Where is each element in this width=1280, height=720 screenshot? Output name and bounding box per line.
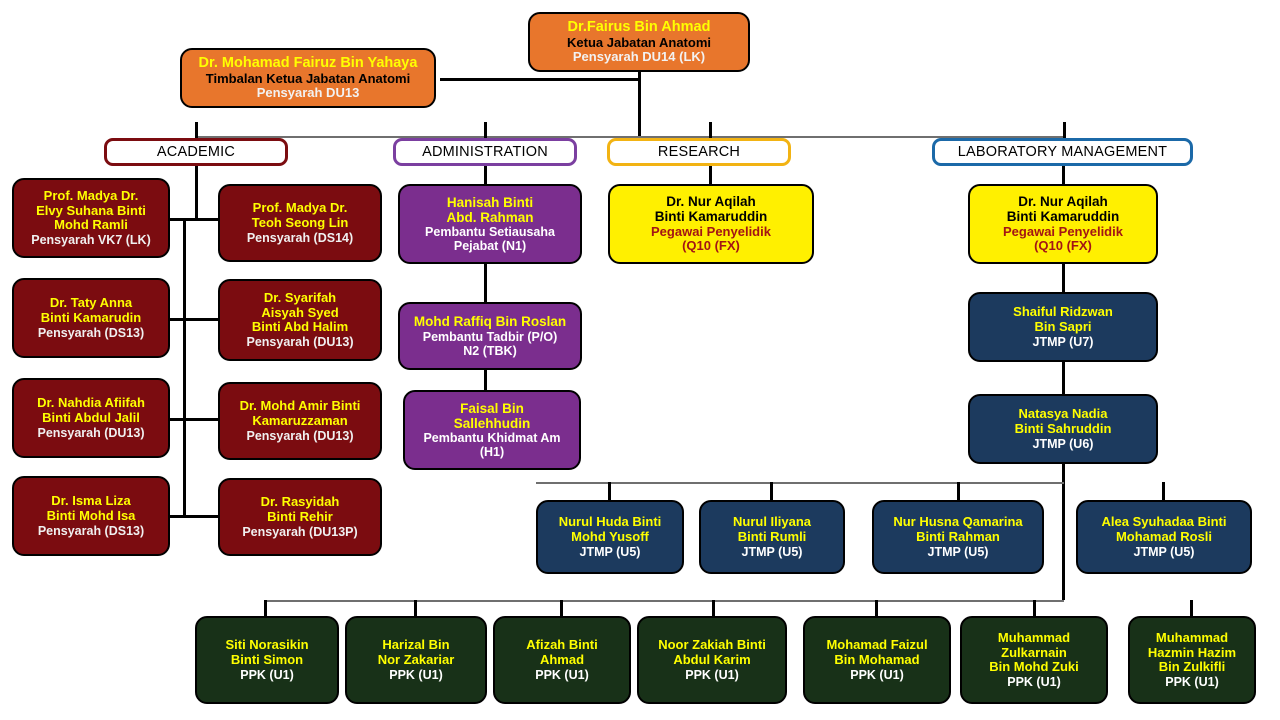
node-name-line: Binti Rahman	[916, 530, 1000, 545]
node-name-line: Siti Norasikin	[225, 638, 308, 653]
node-role-line: Pensyarah (DU13)	[247, 335, 354, 349]
node-name-line: Binti Kamarudin	[41, 311, 141, 326]
node-lab-technician[interactable]: Nurul Iliyana Binti Rumli JTMP (U5)	[699, 500, 845, 574]
node-lab-technician[interactable]: Nur Husna Qamarina Binti Rahman JTMP (U5…	[872, 500, 1044, 574]
connector-admin-low	[484, 368, 487, 392]
node-lab-assistant[interactable]: Siti Norasikin Binti Simon PPK (U1)	[195, 616, 339, 704]
node-role-line: Pembantu Setiausaha	[425, 225, 555, 239]
connector-tech-drop-1	[608, 482, 611, 500]
node-name-line: Teoh Seong Lin	[252, 216, 349, 231]
node-name-line: Nor Zakariar	[378, 653, 455, 668]
node-name-line: Dr. Nur Aqilah	[1018, 194, 1108, 209]
node-name-line: Binti Simon	[231, 653, 303, 668]
node-name-line: Ahmad	[540, 653, 584, 668]
node-name-line: Dr. Nahdia Afiifah	[37, 396, 145, 411]
node-role-line: PPK (U1)	[1165, 675, 1218, 689]
node-name-line: Bin Mohamad	[834, 653, 919, 668]
node-name-line: Zulkarnain	[1001, 646, 1067, 661]
node-academic-staff[interactable]: Dr. Mohd Amir Binti Kamaruzzaman Pensyar…	[218, 382, 382, 460]
node-name-line: Alea Syuhadaa Binti	[1102, 515, 1227, 530]
connector-deputy-link	[440, 78, 640, 81]
node-name-line: Abdul Karim	[673, 653, 750, 668]
node-lab-officer[interactable]: Shaiful Ridzwan Bin Sapri JTMP (U7)	[968, 292, 1158, 362]
node-role-line: Pembantu Khidmat Am	[423, 431, 560, 445]
node-role-line: JTMP (U6)	[1033, 437, 1094, 451]
node-name-line: Binti Rumli	[738, 530, 807, 545]
node-name-line: Binti Abdul Jalil	[42, 411, 140, 426]
node-lab-assistant[interactable]: Harizal Bin Nor Zakariar PPK (U1)	[345, 616, 487, 704]
node-name-line: Binti Kamaruddin	[655, 209, 768, 224]
connector-drop-academic	[195, 122, 198, 138]
connector-drop-laboratory	[1063, 122, 1066, 138]
node-name-line: Prof. Madya Dr.	[253, 201, 348, 216]
node-role-line: Pensyarah VK7 (LK)	[31, 233, 150, 247]
node-role-line: Pensyarah (DS14)	[247, 231, 353, 245]
node-position: Ketua Jabatan Anatomi	[567, 36, 711, 51]
node-name-line: Binti Abd Halim	[252, 320, 348, 335]
node-name-line: Shaiful Ridzwan	[1013, 305, 1113, 320]
node-role-line: N2 (TBK)	[463, 344, 516, 358]
node-name-line: Mohamad Faizul	[826, 638, 927, 653]
node-role-line: JTMP (U5)	[742, 545, 803, 559]
node-role-line: (Q10 (FX)	[682, 239, 740, 254]
connector-academic-spine	[195, 166, 198, 220]
category-label: ADMINISTRATION	[422, 144, 548, 160]
node-name-line: Mohd Yusoff	[571, 530, 649, 545]
node-academic-staff[interactable]: Prof. Madya Dr. Elvy Suhana Binti Mohd R…	[12, 178, 170, 258]
connector-drop-research	[709, 122, 712, 138]
connector-tech-drop-4	[1162, 482, 1165, 500]
connector-head-trunk	[638, 72, 641, 137]
node-role-line: JTMP (U5)	[1134, 545, 1195, 559]
node-academic-staff[interactable]: Prof. Madya Dr. Teoh Seong Lin Pensyarah…	[218, 184, 382, 262]
node-name-line: Dr. Rasyidah	[261, 495, 340, 510]
node-name-line: Binti Mohd Isa	[47, 509, 136, 524]
node-role-line: Pegawai Penyelidik	[651, 225, 771, 240]
node-academic-staff[interactable]: Dr. Nahdia Afiifah Binti Abdul Jalil Pen…	[12, 378, 170, 458]
node-name-line: Faisal Bin	[460, 401, 524, 416]
node-grade: Pensyarah DU14 (LK)	[573, 50, 705, 65]
node-name-line: Dr. Mohd Amir Binti	[240, 399, 361, 414]
node-role-line: JTMP (U5)	[580, 545, 641, 559]
connector-admin-mid	[484, 262, 487, 304]
node-name-line: Binti Sahruddin	[1015, 422, 1112, 437]
node-name: Dr.Fairus Bin Ahmad	[568, 19, 711, 35]
node-academic-staff[interactable]: Dr. Rasyidah Binti Rehir Pensyarah (DU13…	[218, 478, 382, 556]
node-academic-staff[interactable]: Dr. Isma Liza Binti Mohd Isa Pensyarah (…	[12, 476, 170, 556]
node-role-line: JTMP (U5)	[928, 545, 989, 559]
node-name-line: Bin Sapri	[1034, 320, 1091, 335]
node-role-line: Pembantu Tadbir (P/O)	[423, 330, 558, 344]
category-label: ACADEMIC	[157, 144, 235, 160]
node-role-line: (H1)	[480, 445, 504, 459]
node-name-line: Hanisah Binti	[447, 195, 533, 210]
category-research[interactable]: RESEARCH	[607, 138, 791, 166]
node-role-line: Pegawai Penyelidik	[1003, 225, 1123, 240]
node-lab-assistant[interactable]: Afizah Binti Ahmad PPK (U1)	[493, 616, 631, 704]
node-name-line: Nurul Huda Binti	[559, 515, 662, 530]
node-name-line: Dr. Isma Liza	[51, 494, 130, 509]
category-laboratory-management[interactable]: LABORATORY MANAGEMENT	[932, 138, 1193, 166]
node-lab-assistant[interactable]: Muhammad Hazmin Hazim Bin Zulkifli PPK (…	[1128, 616, 1256, 704]
node-administration-staff[interactable]: Hanisah Binti Abd. Rahman Pembantu Setia…	[398, 184, 582, 264]
node-name-line: Dr. Taty Anna	[50, 296, 132, 311]
node-research-officer[interactable]: Dr. Nur Aqilah Binti Kamaruddin Pegawai …	[608, 184, 814, 264]
node-role-line: PPK (U1)	[850, 668, 903, 682]
connector-drop-administration	[484, 122, 487, 138]
node-name-line: Nurul Iliyana	[733, 515, 811, 530]
node-name-line: Harizal Bin	[382, 638, 449, 653]
node-role-line: PPK (U1)	[1007, 675, 1060, 689]
node-role-line: Pensyarah (DU13P)	[242, 525, 357, 539]
connector-technician-bus	[536, 482, 1064, 484]
node-lab-technician[interactable]: Alea Syuhadaa Binti Mohamad Rosli JTMP (…	[1076, 500, 1252, 574]
node-lab-technician[interactable]: Nurul Huda Binti Mohd Yusoff JTMP (U5)	[536, 500, 684, 574]
node-name-line: Kamaruzzaman	[252, 414, 347, 429]
category-academic[interactable]: ACADEMIC	[104, 138, 288, 166]
node-name-line: Natasya Nadia	[1019, 407, 1108, 422]
org-chart: Dr.Fairus Bin Ahmad Ketua Jabatan Anatom…	[0, 0, 1280, 720]
node-name-line: Hazmin Hazim	[1148, 646, 1236, 661]
node-name-line: Bin Mohd Zuki	[989, 660, 1079, 675]
node-administration-staff[interactable]: Faisal Bin Sallehhudin Pembantu Khidmat …	[403, 390, 581, 470]
node-lab-assistant[interactable]: Muhammad Zulkarnain Bin Mohd Zuki PPK (U…	[960, 616, 1108, 704]
node-lab-research-officer[interactable]: Dr. Nur Aqilah Binti Kamaruddin Pegawai …	[968, 184, 1158, 264]
node-role-line: PPK (U1)	[535, 668, 588, 682]
node-lab-assistant[interactable]: Noor Zakiah Binti Abdul Karim PPK (U1)	[637, 616, 787, 704]
node-role-line: (Q10 (FX)	[1034, 239, 1092, 254]
node-name-line: Sallehhudin	[454, 416, 531, 431]
node-academic-staff[interactable]: Dr. Taty Anna Binti Kamarudin Pensyarah …	[12, 278, 170, 358]
node-name-line: Dr. Nur Aqilah	[666, 194, 756, 209]
connector-lab-2	[1062, 361, 1065, 397]
node-grade: Pensyarah DU13	[257, 86, 360, 101]
node-role-line: Pensyarah (DS13)	[38, 326, 144, 340]
node-name-line: Bin Zulkifli	[1159, 660, 1225, 675]
node-name-line: Muhammad	[1156, 631, 1228, 646]
node-name-line: Noor Zakiah Binti	[658, 638, 766, 653]
node-name-line: Muhammad	[998, 631, 1070, 646]
node-lab-assistant[interactable]: Mohamad Faizul Bin Mohamad PPK (U1)	[803, 616, 951, 704]
node-role-line: JTMP (U7)	[1033, 335, 1094, 349]
node-name-line: Abd. Rahman	[446, 210, 533, 225]
node-name-line: Dr. Syarifah	[264, 291, 336, 306]
node-name-line: Afizah Binti	[526, 638, 598, 653]
connector-lab-1	[1062, 264, 1065, 294]
connector-tech-drop-2	[770, 482, 773, 500]
connector-tech-drop-3	[957, 482, 960, 500]
node-position: Timbalan Ketua Jabatan Anatomi	[206, 72, 410, 87]
connector-academic-vertical	[183, 218, 186, 518]
node-name-line: Mohd Raffiq Bin Roslan	[414, 314, 566, 329]
category-administration[interactable]: ADMINISTRATION	[393, 138, 577, 166]
node-role-line: PPK (U1)	[685, 668, 738, 682]
node-name-line: Mohd Ramli	[54, 218, 128, 233]
category-label: LABORATORY MANAGEMENT	[958, 144, 1167, 160]
connector-assistant-bus	[264, 600, 1064, 602]
node-administration-staff[interactable]: Mohd Raffiq Bin Roslan Pembantu Tadbir (…	[398, 302, 582, 370]
node-name-line: Aisyah Syed	[261, 306, 338, 321]
node-role-line: Pensyarah (DS13)	[38, 524, 144, 538]
node-deputy-head[interactable]: Dr. Mohamad Fairuz Bin Yahaya Timbalan K…	[180, 48, 436, 108]
node-name-line: Mohamad Rosli	[1116, 530, 1212, 545]
node-role-line: Pensyarah (DU13)	[247, 429, 354, 443]
node-academic-staff[interactable]: Dr. Syarifah Aisyah Syed Binti Abd Halim…	[218, 279, 382, 361]
node-role-line: Pejabat (N1)	[454, 239, 526, 253]
node-lab-officer[interactable]: Natasya Nadia Binti Sahruddin JTMP (U6)	[968, 394, 1158, 464]
node-name-line: Elvy Suhana Binti	[36, 204, 146, 219]
node-name-line: Prof. Madya Dr.	[44, 189, 139, 204]
node-role-line: Pensyarah (DU13)	[38, 426, 145, 440]
node-name: Dr. Mohamad Fairuz Bin Yahaya	[199, 55, 418, 71]
category-label: RESEARCH	[658, 144, 740, 160]
node-name-line: Binti Rehir	[267, 510, 333, 525]
node-name-line: Binti Kamaruddin	[1007, 209, 1120, 224]
node-head-of-department[interactable]: Dr.Fairus Bin Ahmad Ketua Jabatan Anatom…	[528, 12, 750, 72]
node-role-line: PPK (U1)	[240, 668, 293, 682]
node-name-line: Nur Husna Qamarina	[893, 515, 1022, 530]
node-role-line: PPK (U1)	[389, 668, 442, 682]
